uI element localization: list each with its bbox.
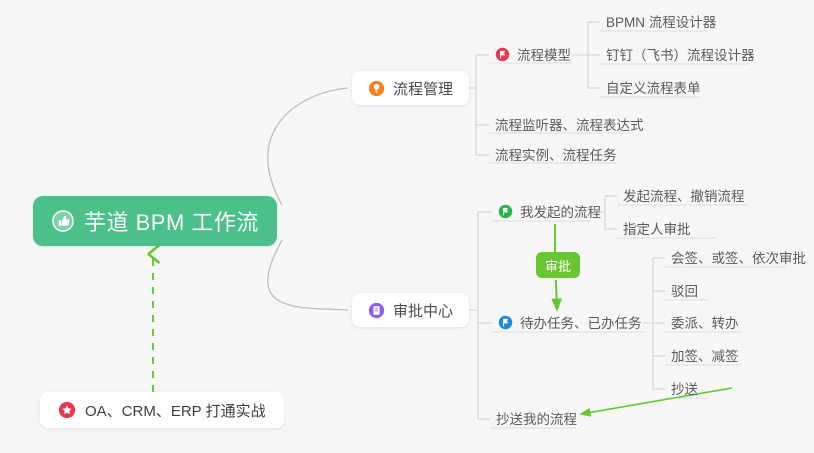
node-add-remove-sign[interactable]: 加签、减签 (665, 344, 745, 368)
root-node[interactable]: 芋道 BPM 工作流 (33, 196, 277, 246)
lightbulb-icon (368, 80, 385, 97)
node-countersign-or-sequential-label: 会签、或签、依次审批 (671, 247, 806, 267)
edge-root-to-process-management (268, 88, 348, 205)
node-cc[interactable]: 抄送 (665, 377, 704, 401)
branch-node-process-management[interactable]: 流程管理 (352, 71, 469, 105)
flag-icon (498, 204, 513, 219)
node-process-model-label: 流程模型 (517, 44, 571, 64)
node-process-listener-expression[interactable]: 流程监听器、流程表达式 (489, 113, 650, 137)
node-start-cancel-process-label: 发起流程、撤销流程 (623, 185, 745, 205)
node-reject-label: 驳回 (671, 280, 698, 300)
node-delegate-transfer-label: 委派、转办 (671, 312, 739, 332)
annotation-edge-cc-to-ccme (581, 388, 732, 414)
node-custom-process-form[interactable]: 自定义流程表单 (600, 76, 707, 100)
flag-icon (498, 315, 513, 330)
node-bpmn-designer-label: BPMN 流程设计器 (606, 11, 716, 31)
node-cc-to-me-process-label: 抄送我的流程 (496, 408, 577, 428)
node-process-listener-expression-label: 流程监听器、流程表达式 (495, 114, 644, 134)
clipboard-icon (368, 302, 385, 319)
annotation-edge-approval-bottom (556, 280, 557, 310)
callout-node-oa-crm-erp[interactable]: OA、CRM、ERP 打通实战 (40, 392, 284, 428)
node-countersign-or-sequential[interactable]: 会签、或签、依次审批 (665, 246, 812, 270)
mindmap-canvas: 芋道 BPM 工作流 流程管理 流程模型 BPMN 流程设计器 钉钉（飞书）流程… (0, 0, 814, 453)
node-cc-to-me-process[interactable]: 抄送我的流程 (490, 407, 583, 431)
flag-icon (495, 47, 510, 62)
node-todo-done-tasks[interactable]: 待办任务、已办任务 (492, 311, 648, 335)
annotation-tag-approval-label: 审批 (545, 256, 571, 275)
node-process-instance-task-label: 流程实例、流程任务 (495, 144, 617, 164)
node-add-remove-sign-label: 加签、减签 (671, 345, 739, 365)
node-process-model[interactable]: 流程模型 (489, 43, 577, 67)
node-cc-label: 抄送 (671, 378, 698, 398)
node-assignee-approval[interactable]: 指定人审批 (617, 217, 697, 241)
node-todo-done-tasks-label: 待办任务、已办任务 (520, 312, 642, 332)
node-custom-process-form-label: 自定义流程表单 (606, 77, 701, 97)
branch-node-approval-center-label: 审批中心 (393, 300, 453, 321)
node-process-instance-task[interactable]: 流程实例、流程任务 (489, 143, 623, 167)
node-bpmn-designer[interactable]: BPMN 流程设计器 (600, 10, 722, 34)
branch-node-process-management-label: 流程管理 (393, 78, 453, 99)
thumbs-up-icon (51, 209, 75, 233)
node-my-initiated-process[interactable]: 我发起的流程 (492, 200, 607, 224)
node-dingtalk-feishu-designer[interactable]: 钉钉（飞书）流程设计器 (600, 43, 761, 67)
edge-root-to-approval-center (268, 240, 348, 310)
callout-node-oa-crm-erp-label: OA、CRM、ERP 打通实战 (85, 400, 266, 421)
root-node-label: 芋道 BPM 工作流 (84, 205, 259, 237)
node-start-cancel-process[interactable]: 发起流程、撤销流程 (617, 184, 751, 208)
node-assignee-approval-label: 指定人审批 (623, 218, 691, 238)
node-delegate-transfer[interactable]: 委派、转办 (665, 311, 745, 335)
node-dingtalk-feishu-designer-label: 钉钉（飞书）流程设计器 (606, 44, 755, 64)
branch-node-approval-center[interactable]: 审批中心 (352, 293, 469, 327)
node-my-initiated-process-label: 我发起的流程 (520, 201, 601, 221)
annotation-tag-approval[interactable]: 审批 (536, 252, 580, 278)
node-reject[interactable]: 驳回 (665, 279, 704, 303)
star-icon (58, 401, 76, 419)
